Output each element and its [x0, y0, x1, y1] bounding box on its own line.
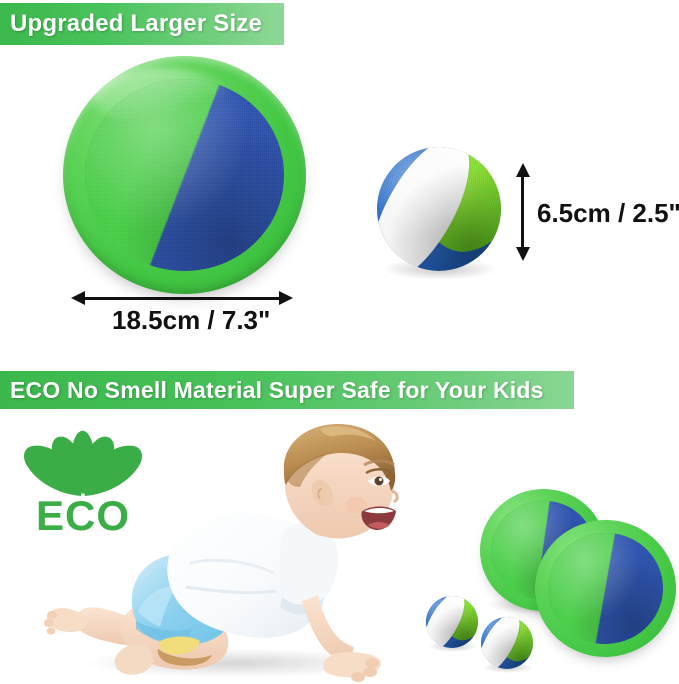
paddle-face	[544, 529, 667, 648]
dimension-label-width: 18.5cm / 7.3"	[112, 305, 270, 336]
product-feature-image: Upgraded Larger Size 18.5cm / 7.3" 6.5cm…	[0, 0, 679, 684]
toss-ball-small-1	[426, 596, 478, 648]
dimension-line-horizontal	[84, 297, 280, 300]
leaf-fan-icon	[18, 424, 148, 500]
dimension-line-vertical	[521, 176, 524, 248]
banner-eco-material-label: ECO No Smell Material Super Safe for You…	[10, 377, 544, 404]
ball-shading	[426, 596, 478, 648]
paddle-disc-front	[530, 515, 679, 662]
arrow-head-down-icon	[516, 247, 530, 261]
toss-ball-large	[377, 147, 501, 271]
arrow-head-up-icon	[516, 163, 530, 177]
arrow-head-left-icon	[71, 291, 85, 305]
arrow-head-right-icon	[279, 291, 293, 305]
eco-logo-text: ECO	[18, 496, 148, 536]
dimension-label-height: 6.5cm / 2.5"	[537, 198, 679, 229]
paddle-disc-large	[63, 56, 306, 294]
toss-ball-small-2	[481, 617, 533, 669]
paddle-rim-edge	[63, 56, 306, 294]
eco-logo: ECO	[18, 424, 148, 532]
ball-shading	[481, 617, 533, 669]
banner-upgraded-size: Upgraded Larger Size	[0, 3, 284, 45]
banner-upgraded-size-label: Upgraded Larger Size	[10, 10, 262, 38]
ball-shading	[377, 147, 501, 271]
banner-eco-material: ECO No Smell Material Super Safe for You…	[0, 371, 574, 409]
